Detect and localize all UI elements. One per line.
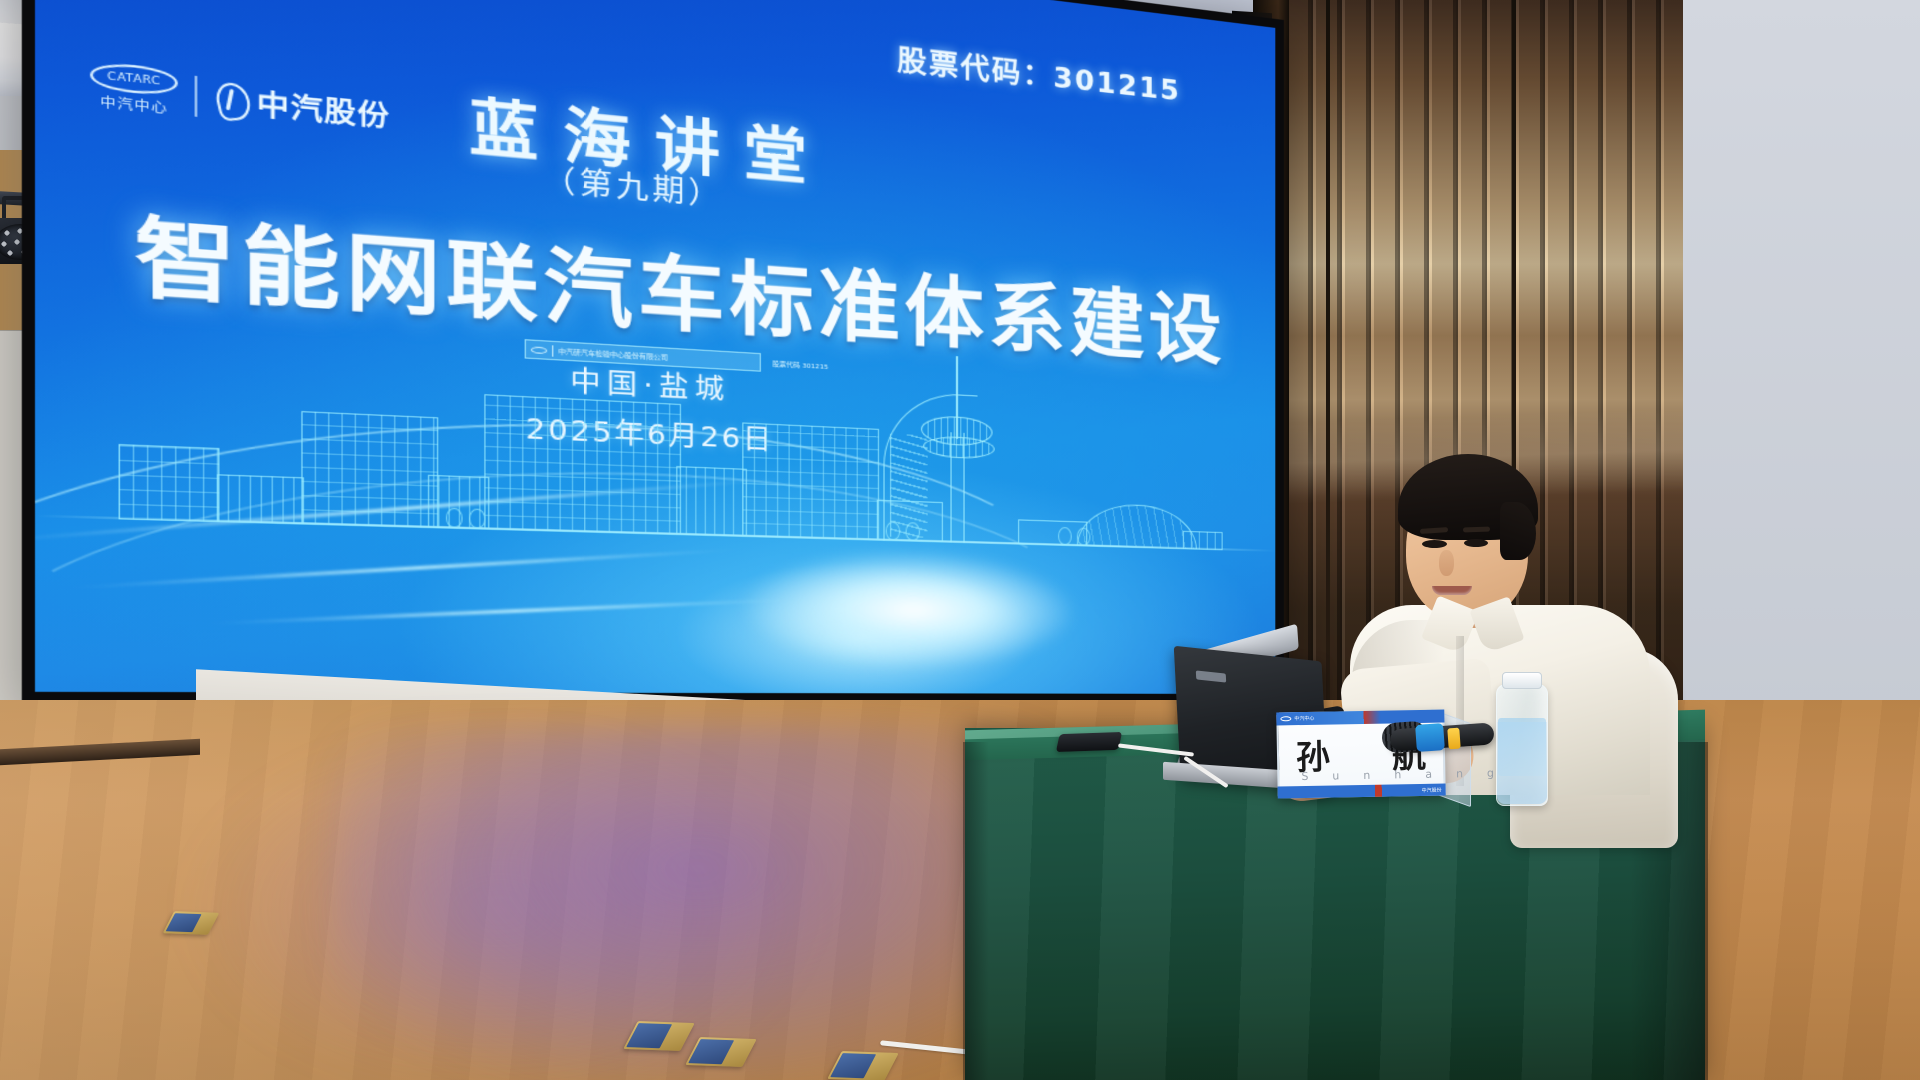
tree-icon-2 [469, 508, 486, 528]
leaf-icon [214, 79, 247, 118]
screen-bezel: 股票代码：301215 CATARC 中汽中心 中汽股份 蓝海讲堂 （第九期） [22, 0, 1284, 724]
building-3 [301, 411, 438, 528]
building-5 [676, 466, 747, 537]
screenshot-root: 股票代码：301215 CATARC 中汽中心 中汽股份 蓝海讲堂 （第九期） [0, 0, 1920, 1080]
led-screen[interactable]: 股票代码：301215 CATARC 中汽中心 中汽股份 蓝海讲堂 （第九期） [22, 0, 1284, 724]
eye-left [1422, 540, 1447, 548]
catarc-logo-icon: CATARC 中汽中心 [90, 61, 178, 119]
screen-surface: 股票代码：301215 CATARC 中汽中心 中汽股份 蓝海讲堂 （第九期） [35, 0, 1275, 694]
bottle-cap [1502, 672, 1542, 689]
building-main [484, 394, 681, 535]
cvc-logo-icon: 中汽股份 [214, 76, 390, 134]
building-1 [119, 444, 220, 522]
namecard-oval-icon [1280, 716, 1291, 721]
eye-right [1464, 539, 1488, 547]
tree-icon-1 [446, 508, 463, 528]
building-sign-text: 中汽研汽车检验中心股份有限公司 [558, 346, 668, 362]
dome-building [1077, 503, 1197, 550]
tree-icon-6 [1077, 528, 1090, 546]
building-6 [742, 422, 879, 540]
building-2 [217, 474, 304, 524]
screen-logo-group: CATARC 中汽中心 中汽股份 [90, 61, 390, 138]
building-9 [1183, 531, 1223, 550]
building-signage: 中汽研汽车检验中心股份有限公司 [525, 339, 761, 372]
catarc-cn-text: 中汽中心 [100, 92, 168, 118]
microphone-blue-band [1415, 723, 1445, 752]
bottle-label [1498, 718, 1546, 776]
sign-oval-icon [531, 346, 547, 354]
mouth [1432, 586, 1472, 595]
microphone-yellow-band [1447, 728, 1460, 750]
bronze-seam-1 [1326, 0, 1330, 800]
smartphone-icon[interactable] [1056, 732, 1122, 752]
namecard-top-text: 中汽中心 [1294, 715, 1314, 722]
tree-icon-4 [906, 522, 920, 541]
stock-code-label: 股票代码：301215 [897, 36, 1181, 108]
building-sign-code: 股票代码 301215 [768, 354, 830, 376]
logo-divider [195, 75, 198, 116]
cvc-logo-text: 中汽股份 [257, 81, 391, 135]
tree-icon-3 [886, 522, 900, 541]
table-left-fold [963, 742, 989, 1080]
nose [1439, 550, 1454, 576]
eyebrow-right [1463, 527, 1490, 533]
sign-divider [552, 345, 553, 356]
tree-icon-5 [1058, 527, 1072, 545]
namecard-bottom-text: 中汽股份 [1422, 786, 1442, 793]
